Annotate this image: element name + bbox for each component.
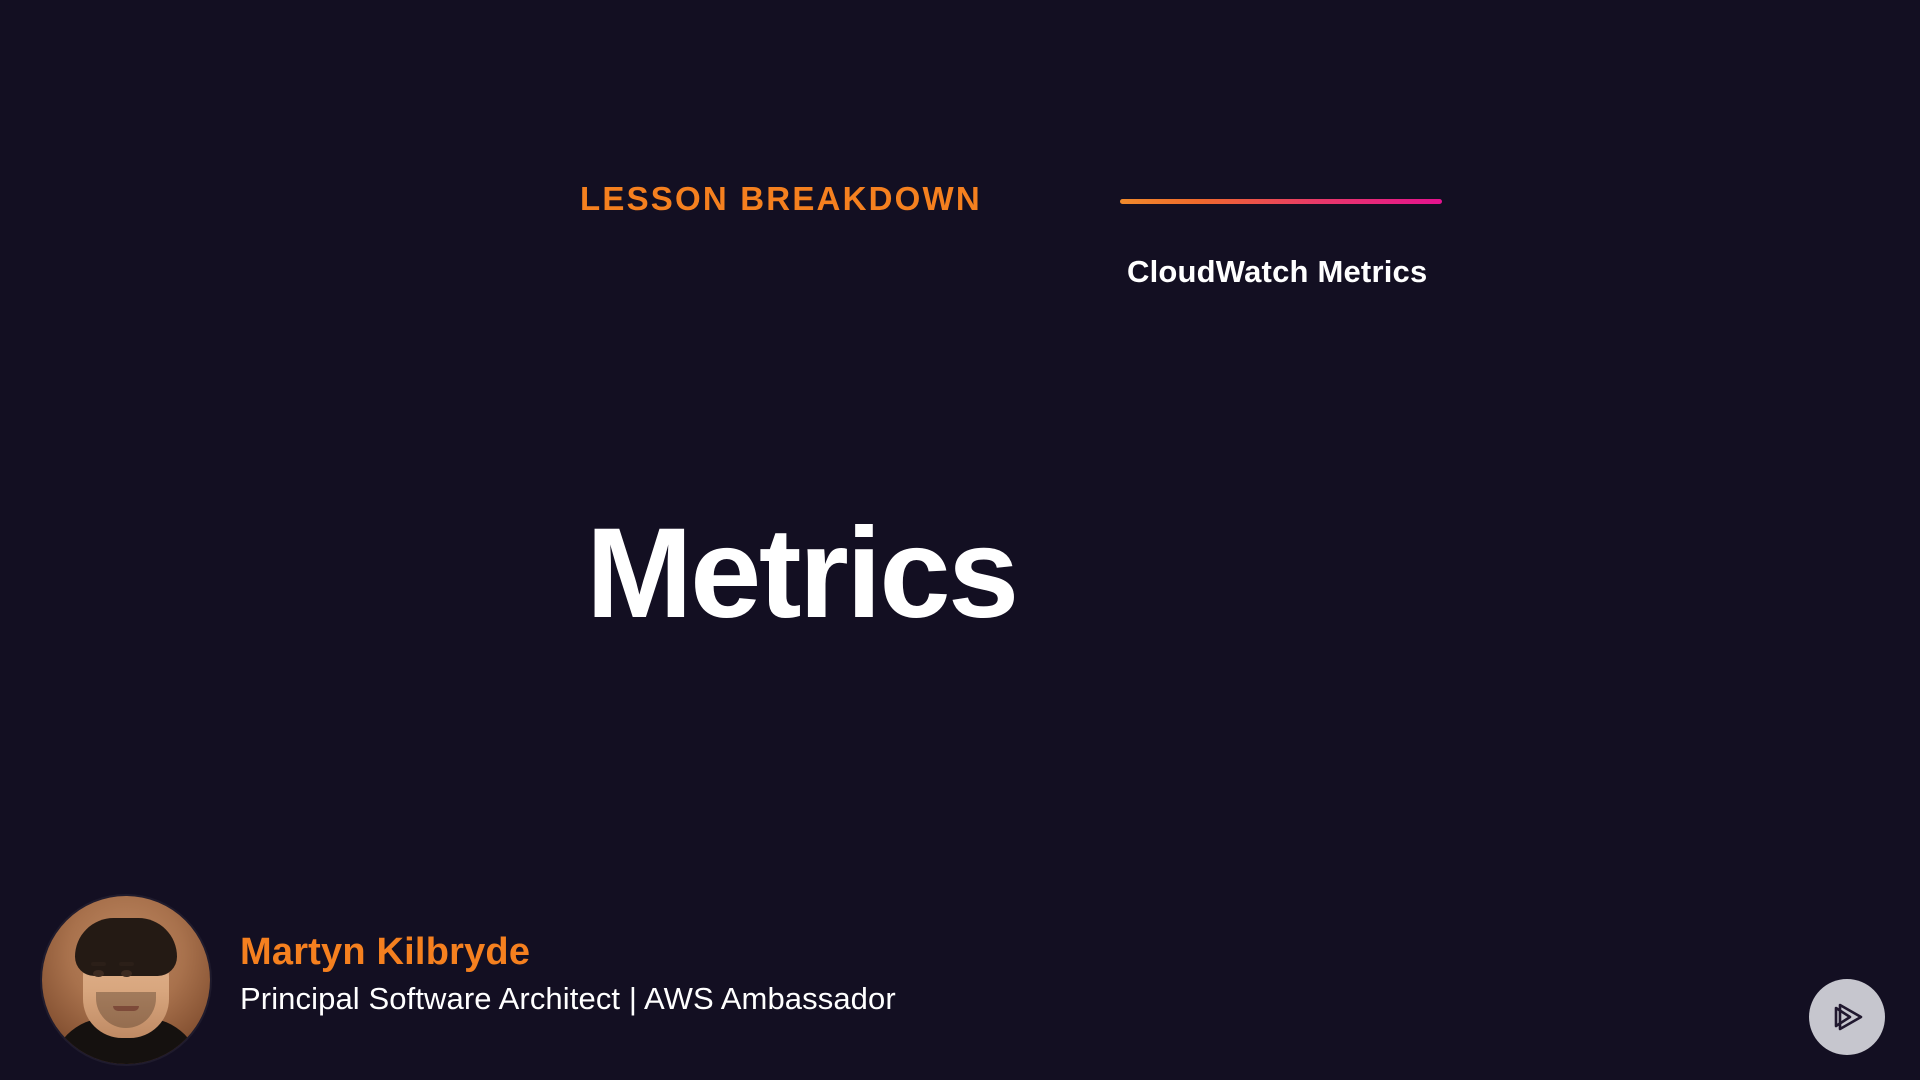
chapter-label: CloudWatch Metrics [1127, 256, 1427, 287]
avatar-mouth [113, 1006, 139, 1011]
slide-canvas: LESSON BREAKDOWN CloudWatch Metrics Metr… [0, 0, 1920, 1080]
avatar-hair [75, 918, 177, 976]
play-badge-button[interactable] [1809, 979, 1885, 1055]
presenter-block: Martyn Kilbryde Principal Software Archi… [42, 896, 896, 1064]
avatar [42, 896, 210, 1064]
lesson-breakdown-kicker: LESSON BREAKDOWN [580, 182, 982, 215]
presenter-role: Principal Software Architect | AWS Ambas… [240, 983, 896, 1014]
presenter-text: Martyn Kilbryde Principal Software Archi… [240, 933, 896, 1028]
avatar-eye-left [93, 970, 104, 977]
avatar-eye-right [121, 970, 132, 977]
avatar-brow-right [119, 962, 134, 966]
double-play-icon [1826, 996, 1868, 1038]
page-title: Metrics [586, 510, 1017, 638]
presenter-name: Martyn Kilbryde [240, 933, 896, 971]
avatar-brow-left [91, 962, 106, 966]
gradient-divider-rule [1120, 199, 1442, 204]
